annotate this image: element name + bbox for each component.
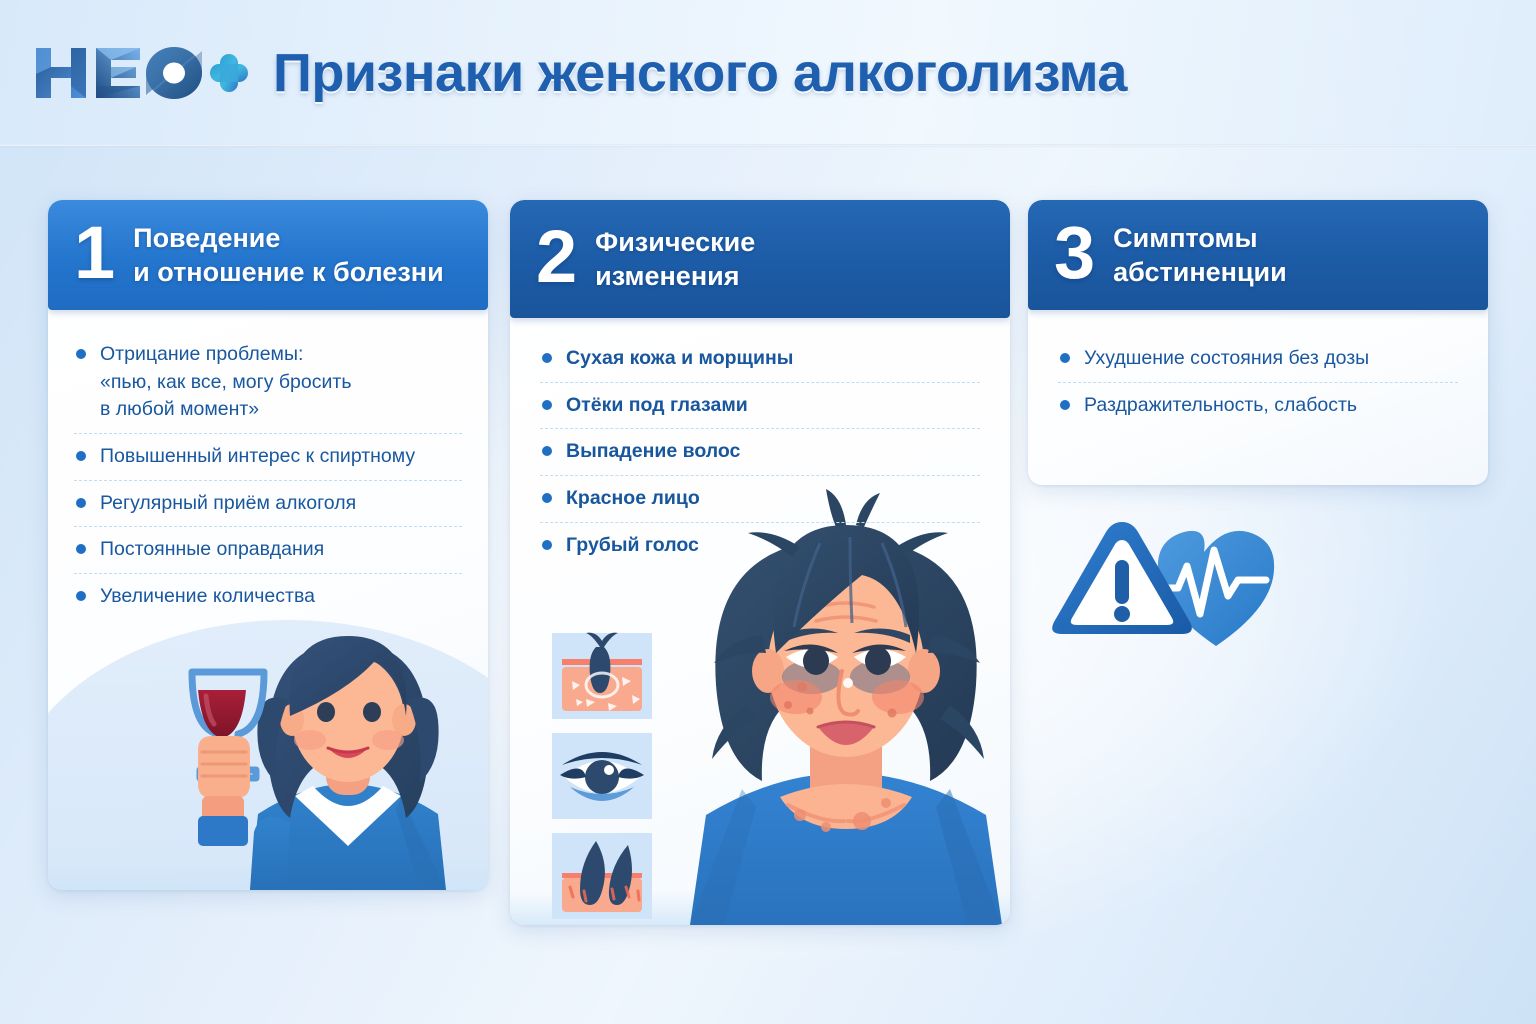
icon-tiles-column — [546, 625, 658, 915]
card-2-title-line1: Физические — [595, 225, 755, 259]
list-item-line: Раздражительность, слабость — [1084, 392, 1458, 420]
card-3-title-line2: абстиненции — [1113, 255, 1287, 289]
card-2-number: 2 — [536, 220, 577, 294]
card-1-number: 1 — [74, 216, 115, 290]
card-3-number: 3 — [1054, 216, 1095, 290]
page-title: Признаки женского алкоголизма — [273, 42, 1127, 104]
neo-plus-logo — [34, 38, 249, 108]
list-item[interactable]: Постоянные оправдания — [74, 526, 462, 573]
list-item[interactable]: Регулярный приём алкоголя — [74, 480, 462, 527]
list-item[interactable]: Повышенный интерес к спиртному — [74, 433, 462, 480]
warning-and-heart-illustration — [1052, 512, 1332, 672]
hair-loss-icon — [552, 833, 652, 919]
eye-bag-icon — [552, 733, 652, 819]
list-item-line: Увеличение количества — [100, 583, 462, 611]
card-withdrawal-symptoms: 3 Симптомы абстиненции Ухудшение состоян… — [1028, 200, 1488, 485]
list-item[interactable]: Отрицание проблемы: «пью, как все, могу … — [74, 332, 462, 433]
card-3-header: 3 Симптомы абстиненции — [1028, 200, 1488, 310]
skin-follicle-icon — [552, 633, 652, 719]
card-physical-changes: 2 Физические изменения Сухая кожа и морщ… — [510, 200, 1010, 925]
list-item-line: Отрицание проблемы: — [100, 341, 462, 369]
bullet-icon — [1060, 353, 1070, 363]
card-2-title-line2: изменения — [595, 259, 755, 293]
card-3-title: Симптомы абстиненции — [1113, 221, 1287, 289]
infographic-page: Признаки женского алкоголизма — [0, 0, 1536, 1024]
card-2-list: Сухая кожа и морщины Отёки под глазами В… — [510, 336, 1010, 568]
card-3-title-line1: Симптомы — [1113, 221, 1287, 255]
list-item-line: в любой момент» — [100, 396, 462, 424]
card-1-title-line2: и отношение к болезни — [133, 255, 444, 289]
list-item-line: Ухудшение состояния без дозы — [1084, 345, 1458, 373]
card-2-title: Физические изменения — [595, 225, 755, 293]
list-item[interactable]: Ухудшение состояния без дозы — [1058, 336, 1458, 382]
list-item-line: Отёки под глазами — [566, 392, 980, 420]
bullet-icon — [542, 446, 552, 456]
bullet-icon — [76, 451, 86, 461]
list-item[interactable]: Сухая кожа и морщины — [540, 336, 980, 382]
list-item-line: Постоянные оправдания — [100, 536, 462, 564]
bullet-icon — [76, 349, 86, 359]
bullet-icon — [76, 544, 86, 554]
list-item[interactable]: Красное лицо — [540, 475, 980, 522]
page-header: Признаки женского алкоголизма — [0, 0, 1536, 146]
woman-with-wine-glass-illustration — [158, 600, 488, 890]
card-1-title: Поведение и отношение к болезни — [133, 221, 444, 289]
list-item[interactable]: Грубый голос — [540, 522, 980, 569]
list-item[interactable]: Выпадение волос — [540, 428, 980, 475]
bullet-icon — [76, 591, 86, 601]
card-behaviour: 1 Поведение и отношение к болезни Отрица… — [48, 200, 488, 890]
list-item[interactable]: Увеличение количества — [74, 573, 462, 620]
list-item-line: Регулярный приём алкоголя — [100, 490, 462, 518]
list-item[interactable]: Отёки под глазами — [540, 382, 980, 429]
list-item-line: «пью, как все, могу бросить — [100, 369, 462, 397]
bullet-icon — [1060, 400, 1070, 410]
list-item-line: Сухая кожа и морщины — [566, 345, 980, 373]
list-item-line: Красное лицо — [566, 485, 980, 513]
card-1-list: Отрицание проблемы: «пью, как все, могу … — [48, 332, 488, 620]
card-1-header: 1 Поведение и отношение к болезни — [48, 200, 488, 310]
bullet-icon — [542, 493, 552, 503]
card-3-list: Ухудшение состояния без дозы Раздражител… — [1028, 336, 1488, 428]
bullet-icon — [542, 400, 552, 410]
card-2-header: 2 Физические изменения — [510, 200, 1010, 318]
card-1-title-line1: Поведение — [133, 221, 444, 255]
list-item[interactable]: Раздражительность, слабость — [1058, 382, 1458, 429]
bullet-icon — [76, 498, 86, 508]
list-item-line: Выпадение волос — [566, 438, 980, 466]
bullet-icon — [542, 353, 552, 363]
bullet-icon — [542, 540, 552, 550]
list-item-line: Грубый голос — [566, 532, 980, 560]
list-item-line: Повышенный интерес к спиртному — [100, 443, 462, 471]
